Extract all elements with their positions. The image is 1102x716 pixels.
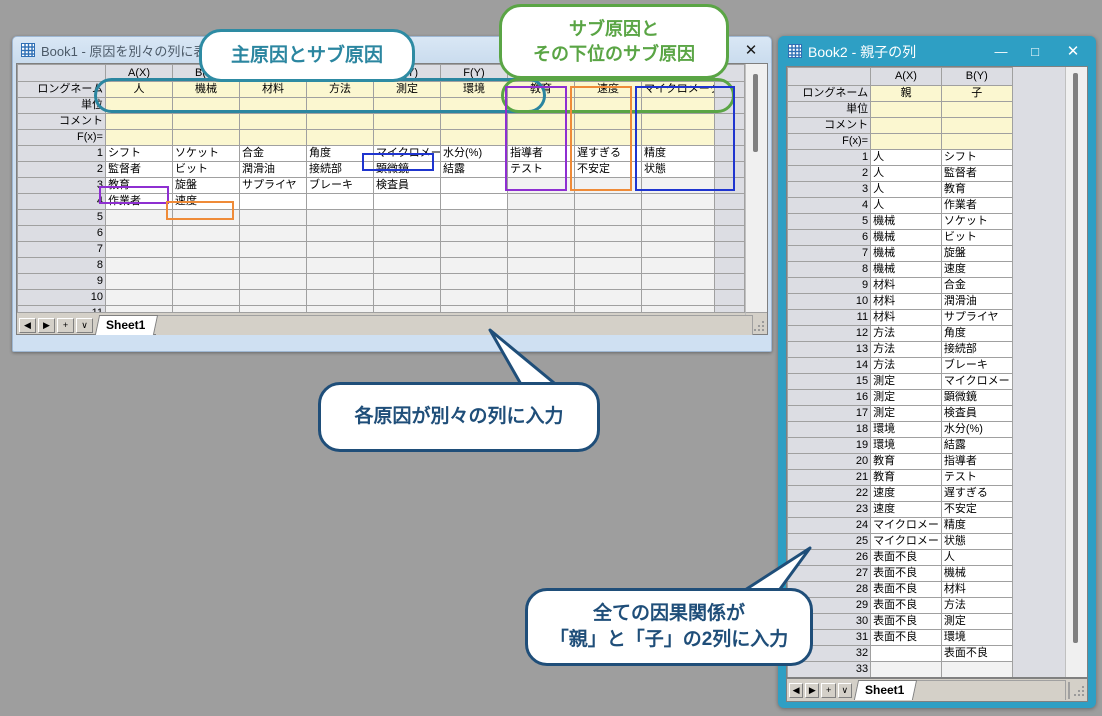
book2-row-pad[interactable] [1012,454,1066,470]
book1-cell-9-3[interactable] [307,274,374,290]
book1-cell-7-2[interactable] [240,242,307,258]
book2-row-pad[interactable] [1012,182,1066,198]
book2-child-cell-26[interactable]: 人 [941,550,1012,566]
book2-child-cell-20[interactable]: 指導者 [941,454,1012,470]
book1-cell-5-6[interactable] [508,210,575,226]
book2-row-header-16[interactable]: 16 [788,390,871,406]
book2-nav-menu[interactable]: ∨ [838,683,852,698]
book2-row-pad[interactable] [1012,518,1066,534]
book2-parent-cell-30[interactable]: 表面不良 [871,614,942,630]
book1-cell-1-7[interactable]: 遅すぎる [575,146,642,162]
book1-cell-3-0[interactable]: 教育 [106,178,173,194]
book1-cell-4-8[interactable] [642,194,715,210]
book1-cell-6-5[interactable] [441,226,508,242]
book1-cell-3-6[interactable] [508,178,575,194]
book1-cell-6-8[interactable] [642,226,715,242]
book2-row-header-6[interactable]: 6 [788,230,871,246]
book2-child-cell-33[interactable] [941,662,1012,678]
book1-cell-3-8[interactable] [642,178,715,194]
book1-cell-1-5[interactable]: 水分(%) [441,146,508,162]
book2-row-pad[interactable] [1012,406,1066,422]
book2-row-pad[interactable] [1012,422,1066,438]
book2-row-header-24[interactable]: 24 [788,518,871,534]
book2-parent-cell-9[interactable]: 材料 [871,278,942,294]
book2-child-cell-3[interactable]: 教育 [941,182,1012,198]
book1-nav-menu[interactable]: ∨ [76,318,93,333]
book2-parent-cell-26[interactable]: 表面不良 [871,550,942,566]
book1-row-pad[interactable] [715,290,745,306]
book2-child-cell-11[interactable]: サプライヤ [941,310,1012,326]
book1-meta-cell-3-5[interactable] [441,130,508,146]
book1-cell-10-8[interactable] [642,290,715,306]
book1-cell-7-6[interactable] [508,242,575,258]
book2-parent-cell-5[interactable]: 機械 [871,214,942,230]
book1-cell-3-5[interactable] [441,178,508,194]
book2-nav-add[interactable]: + [821,683,835,698]
book1-cell-2-6[interactable]: テスト [508,162,575,178]
book1-meta-cell-1-8[interactable] [642,98,715,114]
book1-meta-cell-2-3[interactable] [307,114,374,130]
book1-cell-9-4[interactable] [374,274,441,290]
book1-col-header-0[interactable]: A(X) [106,65,173,82]
book1-cell-7-3[interactable] [307,242,374,258]
book2-child-cell-2[interactable]: 監督者 [941,166,1012,182]
book1-nav-add[interactable]: + [57,318,74,333]
book2-meta-label-2[interactable]: コメント [788,118,871,134]
book1-meta-pad[interactable] [715,130,745,146]
book1-meta-cell-0-7[interactable]: 速度 [575,82,642,98]
book1-cell-4-6[interactable] [508,194,575,210]
book1-cell-10-1[interactable] [173,290,240,306]
book2-row-header-9[interactable]: 9 [788,278,871,294]
book2-child-cell-13[interactable]: 接続部 [941,342,1012,358]
book2-row-header-26[interactable]: 26 [788,550,871,566]
book2-meta-cell-1-0[interactable] [871,102,942,118]
book2-row-header-20[interactable]: 20 [788,454,871,470]
book2-child-cell-17[interactable]: 検査員 [941,406,1012,422]
book1-cell-1-1[interactable]: ソケット [173,146,240,162]
book2-child-cell-7[interactable]: 旋盤 [941,246,1012,262]
book2-parent-cell-13[interactable]: 方法 [871,342,942,358]
book1-corner-cell[interactable] [18,65,106,82]
book1-cell-5-0[interactable] [106,210,173,226]
book1-cell-3-4[interactable]: 検査員 [374,178,441,194]
book1-cell-9-0[interactable] [106,274,173,290]
book1-meta-cell-2-0[interactable] [106,114,173,130]
book1-row-pad[interactable] [715,226,745,242]
book1-row-header-2[interactable]: 2 [18,162,106,178]
book1-row-header-7[interactable]: 7 [18,242,106,258]
book2-row-header-2[interactable]: 2 [788,166,871,182]
book1-cell-2-7[interactable]: 不安定 [575,162,642,178]
book2-child-cell-23[interactable]: 不安定 [941,502,1012,518]
book1-meta-cell-1-7[interactable] [575,98,642,114]
book1-meta-cell-2-6[interactable] [508,114,575,130]
book2-row-pad[interactable] [1012,614,1066,630]
book2-parent-cell-8[interactable]: 機械 [871,262,942,278]
book1-meta-cell-0-4[interactable]: 測定 [374,82,441,98]
book1-cell-9-6[interactable] [508,274,575,290]
book2-meta-pad[interactable] [1012,118,1066,134]
book1-row-header-3[interactable]: 3 [18,178,106,194]
book2-parent-cell-27[interactable]: 表面不良 [871,566,942,582]
book1-col-header-5[interactable]: F(Y) [441,65,508,82]
book1-meta-cell-3-1[interactable] [173,130,240,146]
book1-cell-5-2[interactable] [240,210,307,226]
book2-child-cell-5[interactable]: ソケット [941,214,1012,230]
book2-row-header-7[interactable]: 7 [788,246,871,262]
book2-row-pad[interactable] [1012,326,1066,342]
book2-row-pad[interactable] [1012,598,1066,614]
book2-meta-cell-3-1[interactable] [941,134,1012,150]
book1-cell-10-4[interactable] [374,290,441,306]
book2-meta-pad[interactable] [1012,134,1066,150]
book2-parent-cell-28[interactable]: 表面不良 [871,582,942,598]
book2-meta-pad[interactable] [1012,86,1066,102]
book1-cell-4-4[interactable] [374,194,441,210]
book1-cell-9-2[interactable] [240,274,307,290]
book2-parent-cell-29[interactable]: 表面不良 [871,598,942,614]
book1-cell-8-5[interactable] [441,258,508,274]
book1-cell-8-8[interactable] [642,258,715,274]
book1-cell-4-3[interactable] [307,194,374,210]
book1-meta-cell-2-4[interactable] [374,114,441,130]
book2-row-pad[interactable] [1012,582,1066,598]
book1-cell-6-2[interactable] [240,226,307,242]
book2-row-pad[interactable] [1012,390,1066,406]
book2-meta-label-1[interactable]: 単位 [788,102,871,118]
book1-cell-2-2[interactable]: 潤滑油 [240,162,307,178]
book1-meta-cell-2-2[interactable] [240,114,307,130]
book2-row-pad[interactable] [1012,214,1066,230]
book1-cell-1-2[interactable]: 合金 [240,146,307,162]
book2-row-pad[interactable] [1012,630,1066,646]
book2-row-pad[interactable] [1012,294,1066,310]
book1-cell-6-0[interactable] [106,226,173,242]
book1-meta-cell-0-1[interactable]: 機械 [173,82,240,98]
book2-child-cell-10[interactable]: 潤滑油 [941,294,1012,310]
book2-child-cell-30[interactable]: 測定 [941,614,1012,630]
book2-row-header-14[interactable]: 14 [788,358,871,374]
book1-meta-cell-2-1[interactable] [173,114,240,130]
book2-row-pad[interactable] [1012,550,1066,566]
book1-cell-7-1[interactable] [173,242,240,258]
book2-row-header-11[interactable]: 11 [788,310,871,326]
book2-row-pad[interactable] [1012,358,1066,374]
book1-cell-8-6[interactable] [508,258,575,274]
book1-row-pad[interactable] [715,146,745,162]
book1-cell-8-4[interactable] [374,258,441,274]
book2-row-pad[interactable] [1012,470,1066,486]
book2-parent-cell-6[interactable]: 機械 [871,230,942,246]
book1-row-header-1[interactable]: 1 [18,146,106,162]
book1-meta-cell-3-7[interactable] [575,130,642,146]
book1-cell-5-3[interactable] [307,210,374,226]
book1-meta-cell-3-6[interactable] [508,130,575,146]
book1-cell-3-3[interactable]: ブレーキ [307,178,374,194]
book2-child-cell-18[interactable]: 水分(%) [941,422,1012,438]
book1-cell-1-6[interactable]: 指導者 [508,146,575,162]
book2-parent-cell-1[interactable]: 人 [871,150,942,166]
book2-row-header-27[interactable]: 27 [788,566,871,582]
book2-row-pad[interactable] [1012,262,1066,278]
book2-row-pad[interactable] [1012,230,1066,246]
book2-row-pad[interactable] [1012,246,1066,262]
book2-row-header-17[interactable]: 17 [788,406,871,422]
book1-sheet[interactable]: A(X)B(Y)C(Y)D(Y)E(Y)F(Y)G(Y)H(Y)I(Y)ロングネ… [17,64,745,312]
book1-meta-label-3[interactable]: F(x)= [18,130,106,146]
book2-parent-cell-25[interactable]: マイクロメー [871,534,942,550]
book1-meta-cell-0-8[interactable]: マイクロメーター [642,82,715,98]
book2-meta-cell-0-1[interactable]: 子 [941,86,1012,102]
book2-parent-cell-7[interactable]: 機械 [871,246,942,262]
book1-meta-pad[interactable] [715,114,745,130]
book2-parent-cell-11[interactable]: 材料 [871,310,942,326]
book2-row-header-8[interactable]: 8 [788,262,871,278]
book1-cell-6-6[interactable] [508,226,575,242]
book2-parent-cell-21[interactable]: 教育 [871,470,942,486]
book2-child-cell-4[interactable]: 作業者 [941,198,1012,214]
book2-row-pad[interactable] [1012,166,1066,182]
book2-child-cell-24[interactable]: 精度 [941,518,1012,534]
book1-cell-5-1[interactable] [173,210,240,226]
book1-cell-5-5[interactable] [441,210,508,226]
book2-meta-cell-1-1[interactable] [941,102,1012,118]
book1-cell-7-0[interactable] [106,242,173,258]
book1-vertical-scrollbar[interactable] [745,64,767,312]
book2-parent-cell-23[interactable]: 速度 [871,502,942,518]
book1-row-header-8[interactable]: 8 [18,258,106,274]
book2-close-button[interactable]: ✕ [1056,36,1090,66]
book1-meta-label-1[interactable]: 単位 [18,98,106,114]
book2-parent-cell-24[interactable]: マイクロメー [871,518,942,534]
book2-meta-cell-0-0[interactable]: 親 [871,86,942,102]
book2-row-header-19[interactable]: 19 [788,438,871,454]
book1-meta-cell-1-6[interactable] [508,98,575,114]
book1-cell-10-6[interactable] [508,290,575,306]
book1-meta-pad[interactable] [715,98,745,114]
book2-row-header-15[interactable]: 15 [788,374,871,390]
book2-horizontal-scrollbar[interactable] [1068,682,1070,699]
book2-parent-cell-3[interactable]: 人 [871,182,942,198]
book2-row-header-4[interactable]: 4 [788,198,871,214]
book1-cell-2-0[interactable]: 監督者 [106,162,173,178]
book1-meta-cell-2-5[interactable] [441,114,508,130]
book1-cell-10-5[interactable] [441,290,508,306]
book1-cell-3-2[interactable]: サプライヤ [240,178,307,194]
book2-minimize-button[interactable]: — [984,36,1018,66]
book1-cell-1-4[interactable]: マイクロメー [374,146,441,162]
book1-cell-1-8[interactable]: 精度 [642,146,715,162]
book2-row-pad[interactable] [1012,374,1066,390]
book1-cell-8-1[interactable] [173,258,240,274]
book2-row-pad[interactable] [1012,566,1066,582]
book2-parent-cell-15[interactable]: 測定 [871,374,942,390]
book1-cell-4-1[interactable]: 速度 [173,194,240,210]
book1-cell-10-2[interactable] [240,290,307,306]
book2-child-cell-28[interactable]: 材料 [941,582,1012,598]
book2-vertical-scrollbar[interactable] [1065,67,1087,677]
book2-child-cell-8[interactable]: 速度 [941,262,1012,278]
book2-child-cell-9[interactable]: 合金 [941,278,1012,294]
book2-child-cell-21[interactable]: テスト [941,470,1012,486]
book1-row-pad[interactable] [715,242,745,258]
book1-meta-pad[interactable] [715,82,745,98]
book1-cell-6-1[interactable] [173,226,240,242]
book1-close-button[interactable]: ✕ [731,37,771,63]
book1-sheet-tab[interactable]: Sheet1 [95,315,159,335]
book2-row-pad[interactable] [1012,342,1066,358]
book1-cell-7-8[interactable] [642,242,715,258]
book1-meta-cell-3-4[interactable] [374,130,441,146]
book2-maximize-button[interactable]: □ [1018,36,1052,66]
book2-child-cell-22[interactable]: 遅すぎる [941,486,1012,502]
book2-parent-cell-16[interactable]: 測定 [871,390,942,406]
book1-cell-9-1[interactable] [173,274,240,290]
book2-col-header-1[interactable]: B(Y) [941,68,1012,86]
book2-parent-cell-4[interactable]: 人 [871,198,942,214]
book1-meta-cell-2-7[interactable] [575,114,642,130]
book1-meta-cell-0-5[interactable]: 環境 [441,82,508,98]
book1-row-header-9[interactable]: 9 [18,274,106,290]
book1-cell-5-7[interactable] [575,210,642,226]
book1-meta-cell-3-0[interactable] [106,130,173,146]
book1-cell-2-1[interactable]: ビット [173,162,240,178]
book1-cell-9-5[interactable] [441,274,508,290]
book1-cell-6-7[interactable] [575,226,642,242]
book1-cell-2-5[interactable]: 結露 [441,162,508,178]
book1-cell-2-8[interactable]: 状態 [642,162,715,178]
book1-meta-cell-0-6[interactable]: 教育 [508,82,575,98]
book2-parent-cell-10[interactable]: 材料 [871,294,942,310]
book2-row-header-12[interactable]: 12 [788,326,871,342]
book2-row-pad[interactable] [1012,198,1066,214]
book2-meta-cell-2-1[interactable] [941,118,1012,134]
book1-meta-cell-0-3[interactable]: 方法 [307,82,374,98]
book2-parent-cell-31[interactable]: 表面不良 [871,630,942,646]
book2-row-pad[interactable] [1012,534,1066,550]
book2-meta-label-3[interactable]: F(x)= [788,134,871,150]
book1-meta-cell-1-4[interactable] [374,98,441,114]
book1-cell-6-3[interactable] [307,226,374,242]
book2-row-header-25[interactable]: 25 [788,534,871,550]
book2-parent-cell-32[interactable] [871,646,942,662]
book2-parent-cell-33[interactable] [871,662,942,678]
book2-sheet[interactable]: A(X)B(Y)ロングネーム親子単位コメントF(x)=1人シフト2人監督者3人教… [787,67,1067,677]
book1-cell-10-7[interactable] [575,290,642,306]
book1-cell-8-0[interactable] [106,258,173,274]
book1-cell-10-0[interactable] [106,290,173,306]
book2-child-cell-29[interactable]: 方法 [941,598,1012,614]
book1-cell-1-3[interactable]: 角度 [307,146,374,162]
book2-row-pad[interactable] [1012,310,1066,326]
book2-meta-cell-2-0[interactable] [871,118,942,134]
book1-meta-cell-1-0[interactable] [106,98,173,114]
book1-meta-cell-0-0[interactable]: 人 [106,82,173,98]
book2-parent-cell-14[interactable]: 方法 [871,358,942,374]
book2-row-pad[interactable] [1012,646,1066,662]
book2-child-cell-25[interactable]: 状態 [941,534,1012,550]
book2-parent-cell-18[interactable]: 環境 [871,422,942,438]
book2-row-pad[interactable] [1012,150,1066,166]
book2-row-pad[interactable] [1012,662,1066,678]
book2-parent-cell-12[interactable]: 方法 [871,326,942,342]
book2-row-pad[interactable] [1012,438,1066,454]
book2-row-pad[interactable] [1012,278,1066,294]
book1-cell-7-5[interactable] [441,242,508,258]
book2-child-cell-1[interactable]: シフト [941,150,1012,166]
book2-row-pad[interactable] [1012,486,1066,502]
book1-meta-cell-3-8[interactable] [642,130,715,146]
book2-parent-cell-2[interactable]: 人 [871,166,942,182]
book2-meta-pad[interactable] [1012,102,1066,118]
book1-meta-cell-1-1[interactable] [173,98,240,114]
book1-row-header-6[interactable]: 6 [18,226,106,242]
book2-row-header-21[interactable]: 21 [788,470,871,486]
book2-parent-cell-17[interactable]: 測定 [871,406,942,422]
book1-cell-5-4[interactable] [374,210,441,226]
book1-cell-2-4[interactable]: 顕微鏡 [374,162,441,178]
book1-meta-label-2[interactable]: コメント [18,114,106,130]
book1-nav-next[interactable]: ▶ [38,318,55,333]
book2-row-pad[interactable] [1012,502,1066,518]
book1-cell-2-3[interactable]: 接続部 [307,162,374,178]
book2-corner-cell[interactable] [788,68,871,86]
book1-cell-1-0[interactable]: シフト [106,146,173,162]
book1-meta-cell-3-2[interactable] [240,130,307,146]
book1-cell-3-1[interactable]: 旋盤 [173,178,240,194]
book2-row-header-23[interactable]: 23 [788,502,871,518]
book1-cell-4-5[interactable] [441,194,508,210]
book2-row-header-22[interactable]: 22 [788,486,871,502]
book2-child-cell-27[interactable]: 機械 [941,566,1012,582]
book2-parent-cell-20[interactable]: 教育 [871,454,942,470]
book1-row-pad[interactable] [715,162,745,178]
book2-child-cell-12[interactable]: 角度 [941,326,1012,342]
book2-child-cell-32[interactable]: 表面不良 [941,646,1012,662]
book2-nav-first[interactable]: ◀ [789,683,803,698]
book1-cell-8-2[interactable] [240,258,307,274]
book2-row-header-13[interactable]: 13 [788,342,871,358]
book1-row-header-4[interactable]: 4 [18,194,106,210]
book2-row-header-5[interactable]: 5 [788,214,871,230]
book2-child-cell-16[interactable]: 顕微鏡 [941,390,1012,406]
book2-row-header-3[interactable]: 3 [788,182,871,198]
book2-meta-label-0[interactable]: ロングネーム [788,86,871,102]
book1-meta-cell-0-2[interactable]: 材料 [240,82,307,98]
book1-cell-3-7[interactable] [575,178,642,194]
book1-cell-4-7[interactable] [575,194,642,210]
book2-row-header-1[interactable]: 1 [788,150,871,166]
book2-row-header-18[interactable]: 18 [788,422,871,438]
book1-meta-cell-2-8[interactable] [642,114,715,130]
book2-parent-cell-22[interactable]: 速度 [871,486,942,502]
book1-cell-9-8[interactable] [642,274,715,290]
book1-cell-7-7[interactable] [575,242,642,258]
book2-titlebar[interactable]: Book2 - 親子の列 — □ ✕ [778,36,1096,66]
book2-child-cell-6[interactable]: ビット [941,230,1012,246]
book1-meta-cell-1-3[interactable] [307,98,374,114]
book1-row-pad[interactable] [715,178,745,194]
book1-nav-first[interactable]: ◀ [19,318,36,333]
book1-cell-8-3[interactable] [307,258,374,274]
book2-nav-next[interactable]: ▶ [805,683,819,698]
book1-cell-9-7[interactable] [575,274,642,290]
book2-parent-cell-19[interactable]: 環境 [871,438,942,454]
book1-cell-6-4[interactable] [374,226,441,242]
book1-cell-8-7[interactable] [575,258,642,274]
book2-child-cell-14[interactable]: ブレーキ [941,358,1012,374]
